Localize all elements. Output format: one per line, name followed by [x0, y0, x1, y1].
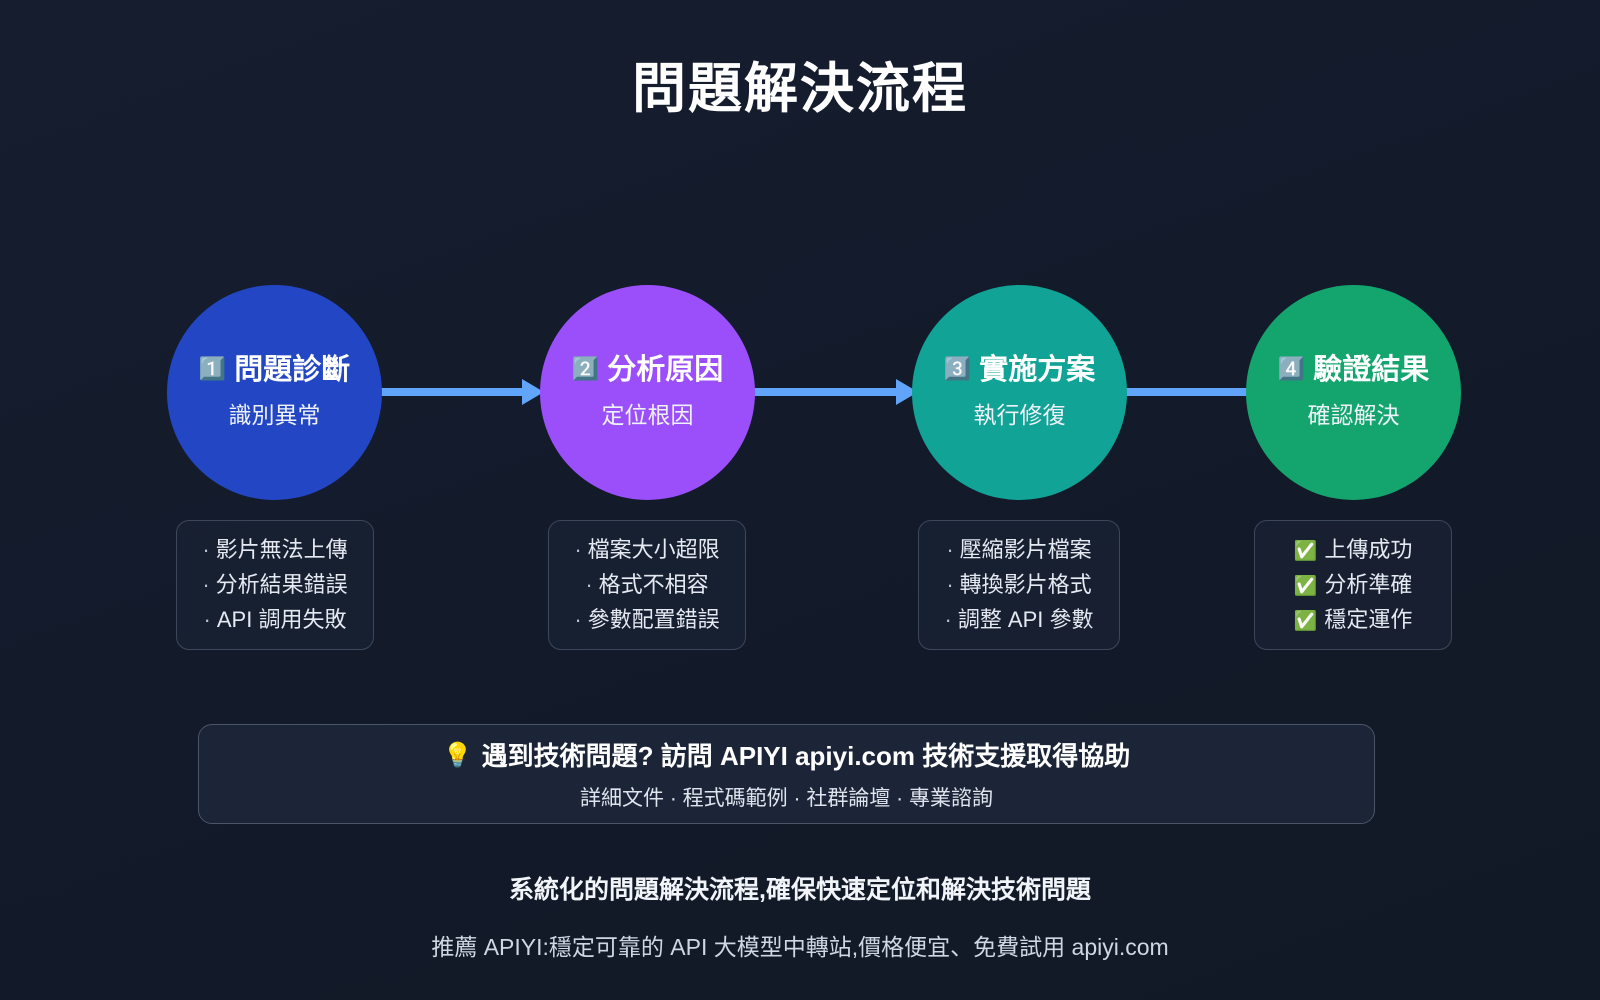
list-item: ✅穩定運作	[1294, 605, 1413, 634]
list-item: ·參數配置錯誤	[574, 605, 719, 634]
list-item: ·檔案大小超限	[574, 535, 719, 564]
list-item-label: 上傳成功	[1324, 537, 1412, 562]
page-title: 問題解決流程	[0, 44, 1600, 123]
flow-step-subtitle-4: 確認解決	[1308, 396, 1400, 430]
list-item-label: 壓縮影片檔案	[960, 537, 1092, 562]
bullet-icon: ·	[946, 537, 953, 562]
list-item: ·調整 API 參數	[944, 605, 1093, 634]
connector-arrow-2-to-3	[750, 388, 920, 396]
flow-step-circle-3[interactable]: 3️⃣ 實施方案 執行修復	[912, 285, 1127, 500]
bullet-icon: ·	[574, 537, 581, 562]
connector-arrow-1-to-2	[378, 388, 546, 396]
list-item-label: 格式不相容	[599, 572, 709, 597]
detail-box-step-3: ·壓縮影片檔案 ·轉換影片格式 ·調整 API 參數	[918, 520, 1120, 650]
list-item: ·影片無法上傳	[202, 535, 347, 564]
bullet-icon: ·	[946, 572, 953, 597]
support-banner-title-text: 遇到技術問題? 訪問 APIYI apiyi.com 技術支援取得協助	[482, 736, 1131, 773]
connector-line-3-to-4	[1122, 388, 1262, 396]
flow-step-title-4: 4️⃣ 驗證結果	[1278, 355, 1429, 387]
detail-box-step-4: ✅上傳成功 ✅分析準確 ✅穩定運作	[1254, 520, 1452, 650]
support-banner[interactable]: 💡 遇到技術問題? 訪問 APIYI apiyi.com 技術支援取得協助 詳細…	[198, 724, 1375, 824]
detail-box-step-2: ·檔案大小超限 ·格式不相容 ·參數配置錯誤	[548, 520, 746, 650]
flow-step-title-2: 2️⃣ 分析原因	[572, 355, 723, 387]
support-banner-subtitle: 詳細文件 · 程式碼範例 · 社群論壇 · 專業諮詢	[580, 782, 993, 812]
keycap-three-icon: 3️⃣	[944, 359, 971, 381]
bullet-icon: ·	[202, 537, 209, 562]
bullet-icon: ·	[574, 607, 581, 632]
connector-line	[1122, 388, 1262, 396]
flow-step-subtitle-3: 執行修復	[974, 396, 1066, 430]
bullet-icon: ·	[202, 572, 209, 597]
footer-recommendation-line: 推薦 APIYI:穩定可靠的 API 大模型中轉站,價格便宜、免費試用 apiy…	[0, 928, 1600, 962]
lightbulb-icon: 💡	[443, 741, 473, 769]
check-mark-icon: ✅	[1294, 540, 1318, 562]
connector-line	[750, 388, 898, 396]
list-item-label: 檔案大小超限	[588, 537, 720, 562]
flow-step-title-text: 驗證結果	[1313, 355, 1429, 387]
detail-box-step-1: ·影片無法上傳 ·分析結果錯誤 ·API 調用失敗	[176, 520, 374, 650]
list-item-label: 穩定運作	[1324, 607, 1412, 632]
flow-step-subtitle-1: 識別異常	[229, 396, 321, 430]
flow-step-title-3: 3️⃣ 實施方案	[944, 355, 1095, 387]
flow-step-circle-1[interactable]: 1️⃣ 問題診斷 識別異常	[167, 285, 382, 500]
bullet-icon: ·	[204, 607, 211, 632]
connector-line	[378, 388, 524, 396]
list-item: ·API 調用失敗	[204, 605, 347, 634]
list-item: ·壓縮影片檔案	[946, 535, 1091, 564]
keycap-two-icon: 2️⃣	[572, 359, 599, 381]
list-item-label: 分析準確	[1324, 572, 1412, 597]
flow-step-title-text: 分析原因	[607, 355, 723, 387]
flow-step-subtitle-2: 定位根因	[602, 396, 694, 430]
list-item-label: 分析結果錯誤	[216, 572, 348, 597]
keycap-one-icon: 1️⃣	[199, 359, 226, 381]
list-item: ✅上傳成功	[1294, 535, 1413, 564]
flow-step-title-text: 問題診斷	[234, 355, 350, 387]
flow-step-title-1: 1️⃣ 問題診斷	[199, 355, 350, 387]
check-mark-icon: ✅	[1294, 575, 1318, 597]
keycap-four-icon: 4️⃣	[1278, 359, 1305, 381]
process-flow: 1️⃣ 問題診斷 識別異常 2️⃣ 分析原因 定位根因 3️⃣ 實施方案 執行修…	[0, 285, 1600, 500]
support-banner-title: 💡 遇到技術問題? 訪問 APIYI apiyi.com 技術支援取得協助	[443, 736, 1131, 773]
list-item-label: 影片無法上傳	[216, 537, 348, 562]
bullet-icon: ·	[585, 572, 592, 597]
list-item-label: 調整 API 參數	[958, 607, 1094, 632]
footer-summary-line: 系統化的問題解決流程,確保快速定位和解決技術問題	[0, 870, 1600, 906]
flow-step-title-text: 實施方案	[979, 355, 1095, 387]
footer: 系統化的問題解決流程,確保快速定位和解決技術問題 推薦 APIYI:穩定可靠的 …	[0, 870, 1600, 962]
list-item: ·轉換影片格式	[946, 570, 1091, 599]
bullet-icon: ·	[944, 607, 951, 632]
flow-step-circle-2[interactable]: 2️⃣ 分析原因 定位根因	[540, 285, 755, 500]
list-item-label: 轉換影片格式	[960, 572, 1092, 597]
list-item: ✅分析準確	[1294, 570, 1413, 599]
check-mark-icon: ✅	[1294, 610, 1318, 632]
list-item-label: API 調用失敗	[217, 607, 347, 632]
list-item: ·分析結果錯誤	[202, 570, 347, 599]
list-item-label: 參數配置錯誤	[588, 607, 720, 632]
flow-step-circle-4[interactable]: 4️⃣ 驗證結果 確認解決	[1246, 285, 1461, 500]
list-item: ·格式不相容	[585, 570, 708, 599]
detail-boxes: ·影片無法上傳 ·分析結果錯誤 ·API 調用失敗 ·檔案大小超限 ·格式不相容…	[0, 520, 1600, 655]
